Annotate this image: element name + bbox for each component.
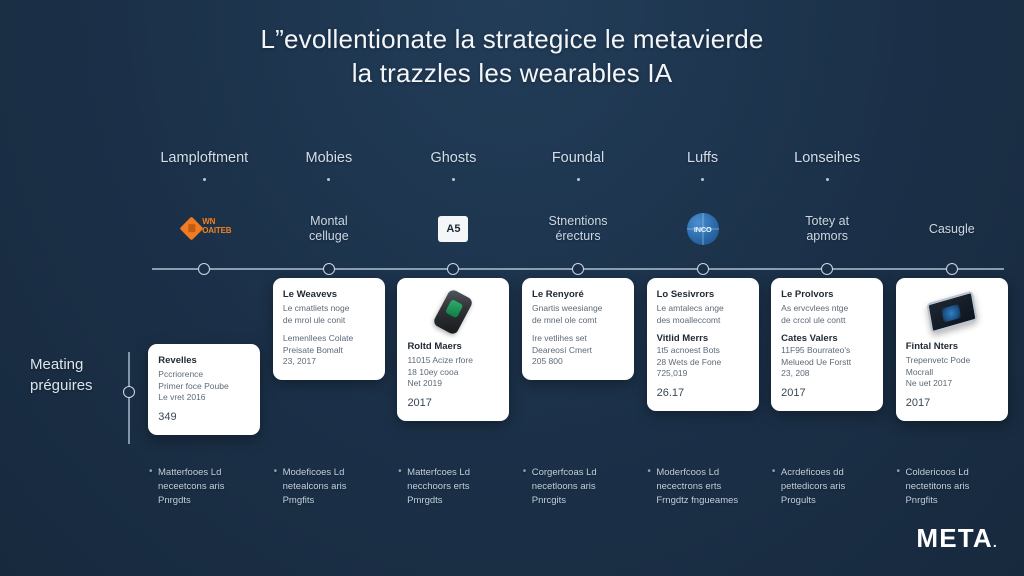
slide-canvas: L”evollentionate la strategice le metavi… (0, 0, 1024, 576)
bullet-slot-1: Modeficoes Ld netealcons aris Pmgfits (267, 466, 392, 508)
left-rail-label: Meating préguires (30, 354, 122, 396)
timeline-node-icon-2[interactable] (447, 263, 459, 275)
bullet-text: Corgerfcoas Ld necetloons aris Pnrcgits (523, 466, 634, 508)
card-title: Le Prolvors (781, 289, 873, 301)
column-header-dot-icon (327, 178, 330, 181)
column-icon-zone-5: Totey at apmors (805, 196, 849, 262)
card-spacer (283, 326, 375, 333)
card-slot-6: Fintal NtersTrepenvetc Pode Mocrall Ne u… (889, 278, 1014, 435)
card-number: 2017 (781, 387, 873, 399)
bullet-text: Matterfcoes Ld necchoors erts Pmrgdts (398, 466, 509, 508)
column-sub-label: Casugle (929, 222, 975, 237)
card-sub-title: Cates Valers (781, 333, 873, 345)
blue-globe-logo-icon: INCO (687, 213, 719, 245)
column-icon-zone-3: Stnentions érecturs (548, 196, 607, 262)
column-header-label: Mobies (305, 150, 352, 166)
column-header-dot-icon (577, 178, 580, 181)
column-header-label: Luffs (687, 150, 718, 166)
card-spacer (657, 326, 749, 333)
timeline-grid: LamploftmentWN OAITEBMobiesMontal cellug… (142, 150, 1014, 550)
timeline-column-2[interactable]: GhostsA5 (391, 150, 516, 262)
globe-logo-text: INCO (694, 225, 712, 234)
column-sub-label: Stnentions érecturs (548, 214, 607, 244)
timeline-column-4[interactable]: LuffsINCO (640, 150, 765, 262)
card-title: Fintal Nters (906, 341, 998, 353)
bullet-text: Matterfooes Ld neceetcons aris Pnrgdts (149, 466, 260, 508)
timeline-node-icon-4[interactable] (697, 263, 709, 275)
column-header-dot-icon (203, 178, 206, 181)
timeline-card[interactable]: Le WeavevsLe cmatliets noge de mrol ule … (273, 278, 385, 380)
card-sub-body: Lemenllees Colate Preisate Bomalt 23, 20… (283, 333, 375, 368)
timeline-node-icon-6[interactable] (946, 263, 958, 275)
bullet-text: Modeficoes Ld netealcons aris Pmgfits (274, 466, 385, 508)
meta-brand-name: META (916, 523, 993, 553)
card-body: Gnartis weesiange de mnel ole comt (532, 303, 624, 326)
card-body: Pccriorence Primer foce Poube Le vret 20… (158, 369, 250, 404)
timeline-card[interactable]: RevellesPccriorence Primer foce Poube Le… (148, 344, 260, 435)
bullet-text: Coldericoos Ld nectetitons aris Pnrgfits (896, 466, 1007, 508)
column-header-dot-icon (826, 178, 829, 181)
timeline-column-5[interactable]: LonseihesTotey at apmors (765, 150, 890, 262)
column-icon-zone-1: Montal celluge (309, 196, 349, 262)
card-image-tablet-device (906, 289, 998, 335)
column-sub-label: Montal celluge (309, 214, 349, 244)
timeline-node-icon-0[interactable] (198, 263, 210, 275)
card-sub-body: Ire vetlihes set Deareosí Cmert 205 800 (532, 333, 624, 368)
card-number: 2017 (407, 397, 499, 409)
card-slot-4: Lo SesivrorsLe amtalecs ange des moallec… (640, 278, 765, 435)
timeline-header-row: LamploftmentWN OAITEBMobiesMontal cellug… (142, 150, 1014, 262)
timeline-axis (142, 268, 1014, 270)
column-header-2: Ghosts (430, 150, 476, 196)
column-icon-zone-0: WN OAITEB (183, 196, 225, 262)
card-title: Lo Sesivrors (657, 289, 749, 301)
column-header-dot-icon (701, 178, 704, 181)
timeline-bullet-row: Matterfooes Ld neceetcons aris PnrgdtsMo… (142, 466, 1014, 508)
card-body: Le amtalecs ange des moalleccomt (657, 303, 749, 326)
timeline-column-0[interactable]: LamploftmentWN OAITEB (142, 150, 267, 262)
timeline-card[interactable]: Le ProlvorsAs ervcvlees ntge de crcol ul… (771, 278, 883, 411)
column-header-label: Ghosts (430, 150, 476, 166)
card-title: Revelles (158, 355, 250, 367)
timeline-card[interactable]: Le RenyoréGnartis weesiange de mnel ole … (522, 278, 634, 380)
card-number: 349 (158, 411, 250, 423)
column-header-label: Lamploftment (160, 150, 248, 166)
meta-brand-mark: . (993, 534, 998, 550)
card-title: Roltd Maers (407, 341, 499, 353)
card-slot-0: RevellesPccriorence Primer foce Poube Le… (142, 278, 267, 435)
card-image-fitness-band-device (407, 289, 499, 335)
card-body: As ervcvlees ntge de crcol ule contt (781, 303, 873, 326)
card-body: Le cmatliets noge de mrol ule conit (283, 303, 375, 326)
card-title: Le Weavevs (283, 289, 375, 301)
card-sub-body: 11F95 Bourrateo's Melueod Ue Forstt 23, … (781, 345, 873, 380)
timeline-card[interactable]: Lo SesivrorsLe amtalecs ange des moallec… (647, 278, 759, 411)
column-icon-zone-4: INCO (687, 196, 719, 262)
timeline-card[interactable]: Fintal NtersTrepenvetc Pode Mocrall Ne u… (896, 278, 1008, 421)
card-slot-3: Le RenyoréGnartis weesiange de mnel ole … (516, 278, 641, 435)
column-header-5: Lonseihes (794, 150, 860, 196)
column-header-3: Foundal (552, 150, 604, 196)
tablet-device-icon (926, 291, 977, 334)
bullet-slot-3: Corgerfcoas Ld necetloons aris Pnrcgits (516, 466, 641, 508)
card-sub-title: Vitlid Merrs (657, 333, 749, 345)
title-line-1: L”evollentionate la strategice le metavi… (0, 22, 1024, 56)
bullet-slot-5: Acrdeficoes dd pettedicors aris Progults (765, 466, 890, 508)
bullet-text: Moderfcoos Ld necectrons erts Frngdtz fn… (647, 466, 758, 508)
column-header-4: Luffs (687, 150, 718, 196)
card-body: Trepenvetc Pode Mocrall Ne uet 2017 (906, 355, 998, 390)
timeline-column-1[interactable]: MobiesMontal celluge (267, 150, 392, 262)
column-header-dot-icon (452, 178, 455, 181)
title-line-2: la trazzles les wearables IA (0, 56, 1024, 90)
timeline-column-3[interactable]: FoundalStnentions érecturs (516, 150, 641, 262)
card-slot-2: Roltd Maers11015 Acize rfore 18 10ey coo… (391, 278, 516, 435)
card-spacer (781, 326, 873, 333)
card-title: Le Renyoré (532, 289, 624, 301)
orange-diamond-logo-icon: WN OAITEB (183, 216, 225, 242)
bullet-slot-6: Coldericoos Ld nectetitons aris Pnrgfits (889, 466, 1014, 508)
bullet-slot-0: Matterfooes Ld neceetcons aris Pnrgdts (142, 466, 267, 508)
column-header-1: Mobies (305, 150, 352, 196)
card-spacer (532, 326, 624, 333)
logo-wordmark: WN OAITEB (202, 217, 231, 235)
column-icon-zone-2: A5 (438, 196, 468, 262)
left-rail-node-icon (123, 386, 135, 398)
column-header-0: Lamploftment (160, 150, 248, 196)
card-sub-body: 1t5 acnoest Bots 28 Wets de Fone 725,019 (657, 345, 749, 380)
column-header-label: Lonseihes (794, 150, 860, 166)
card-slot-5: Le ProlvorsAs ervcvlees ntge de crcol ul… (765, 278, 890, 435)
column-sub-label: Totey at apmors (805, 214, 849, 244)
page-title: L”evollentionate la strategice le metavi… (0, 22, 1024, 90)
white-box-badge-icon: A5 (438, 216, 468, 242)
timeline-column-6[interactable]: Casugle (889, 150, 1014, 262)
bullet-slot-4: Moderfcoos Ld necectrons erts Frngdtz fn… (640, 466, 765, 508)
timeline-node-icon-5[interactable] (821, 263, 833, 275)
card-slot-1: Le WeavevsLe cmatliets noge de mrol ule … (267, 278, 392, 435)
diamond-shape-icon (180, 216, 204, 240)
card-number: 26.17 (657, 387, 749, 399)
card-body: 11015 Acize rfore 18 10ey cooa Net 2019 (407, 355, 499, 390)
meta-brand-logo: META. (916, 523, 998, 554)
card-number: 2017 (906, 397, 998, 409)
timeline-card-row: RevellesPccriorence Primer foce Poube Le… (142, 278, 1014, 435)
left-rail (128, 352, 130, 444)
column-icon-zone-6: Casugle (929, 196, 975, 262)
timeline-card[interactable]: Roltd Maers11015 Acize rfore 18 10ey coo… (397, 278, 509, 421)
timeline-node-icon-1[interactable] (323, 263, 335, 275)
column-header-label: Foundal (552, 150, 604, 166)
bullet-text: Acrdeficoes dd pettedicors aris Progults (772, 466, 883, 508)
bullet-slot-2: Matterfcoes Ld necchoors erts Pmrgdts (391, 466, 516, 508)
timeline-node-icon-3[interactable] (572, 263, 584, 275)
left-rail-line (128, 352, 130, 444)
fitness-band-device-icon (433, 288, 475, 336)
